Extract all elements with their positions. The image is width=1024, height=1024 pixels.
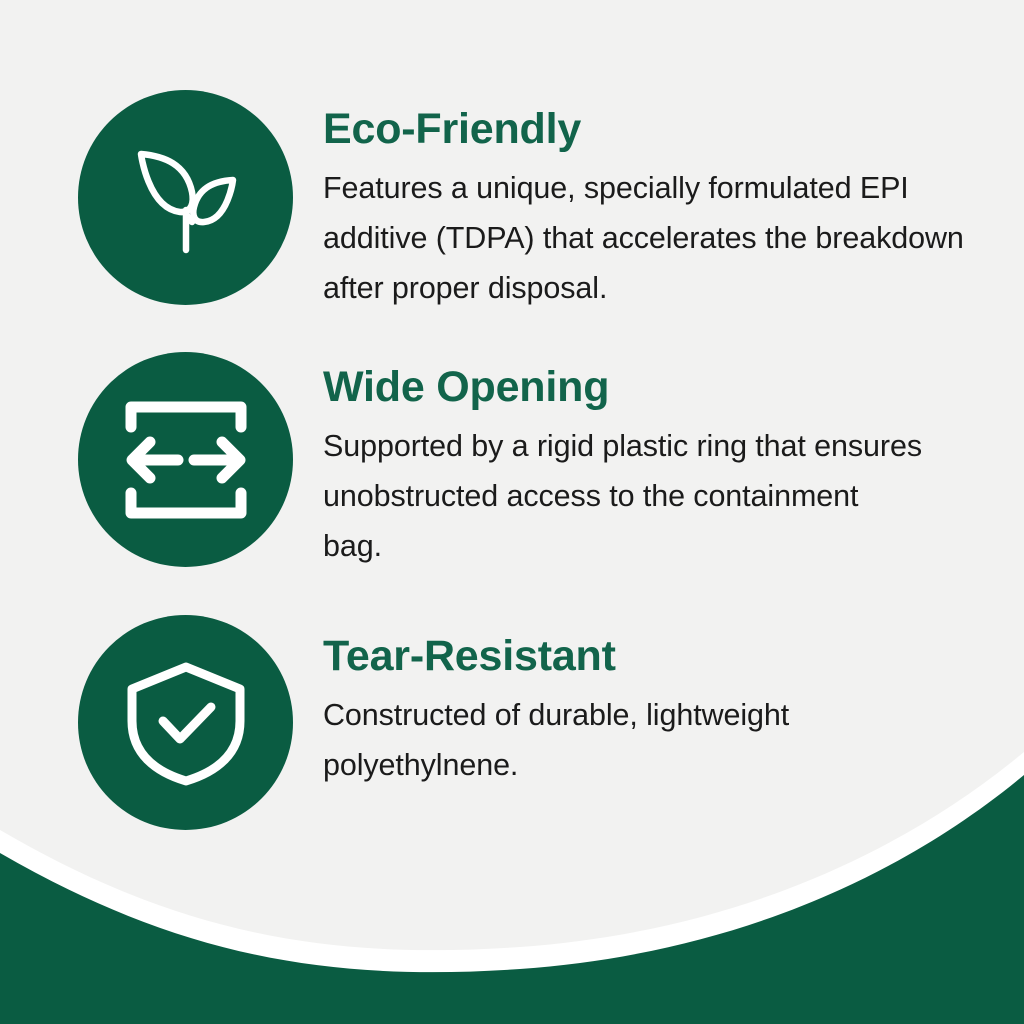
shield-check-icon <box>122 659 250 787</box>
feature-item-eco-friendly: Eco-Friendly Features a unique, speciall… <box>78 90 1003 313</box>
feature-description: Features a unique, specially formulated … <box>323 163 993 313</box>
feature-icon-badge <box>78 352 293 567</box>
feature-description: Constructed of durable, lightweight poly… <box>323 690 903 790</box>
feature-icon-badge <box>78 615 293 830</box>
feature-icon-badge <box>78 90 293 305</box>
wide-opening-arrows-icon <box>123 397 249 523</box>
feature-text-block: Tear-Resistant Constructed of durable, l… <box>323 615 1003 790</box>
seedling-leaf-icon <box>120 132 252 264</box>
feature-title: Wide Opening <box>323 366 1003 409</box>
feature-title: Tear-Resistant <box>323 635 1003 678</box>
feature-item-tear-resistant: Tear-Resistant Constructed of durable, l… <box>78 615 1003 830</box>
feature-text-block: Eco-Friendly Features a unique, speciall… <box>323 90 1003 313</box>
feature-item-wide-opening: Wide Opening Supported by a rigid plasti… <box>78 352 1003 571</box>
feature-title: Eco-Friendly <box>323 108 1003 151</box>
feature-text-block: Wide Opening Supported by a rigid plasti… <box>323 352 1003 571</box>
feature-description: Supported by a rigid plastic ring that e… <box>323 421 923 571</box>
feature-highlights-poster: Eco-Friendly Features a unique, speciall… <box>0 0 1024 1024</box>
